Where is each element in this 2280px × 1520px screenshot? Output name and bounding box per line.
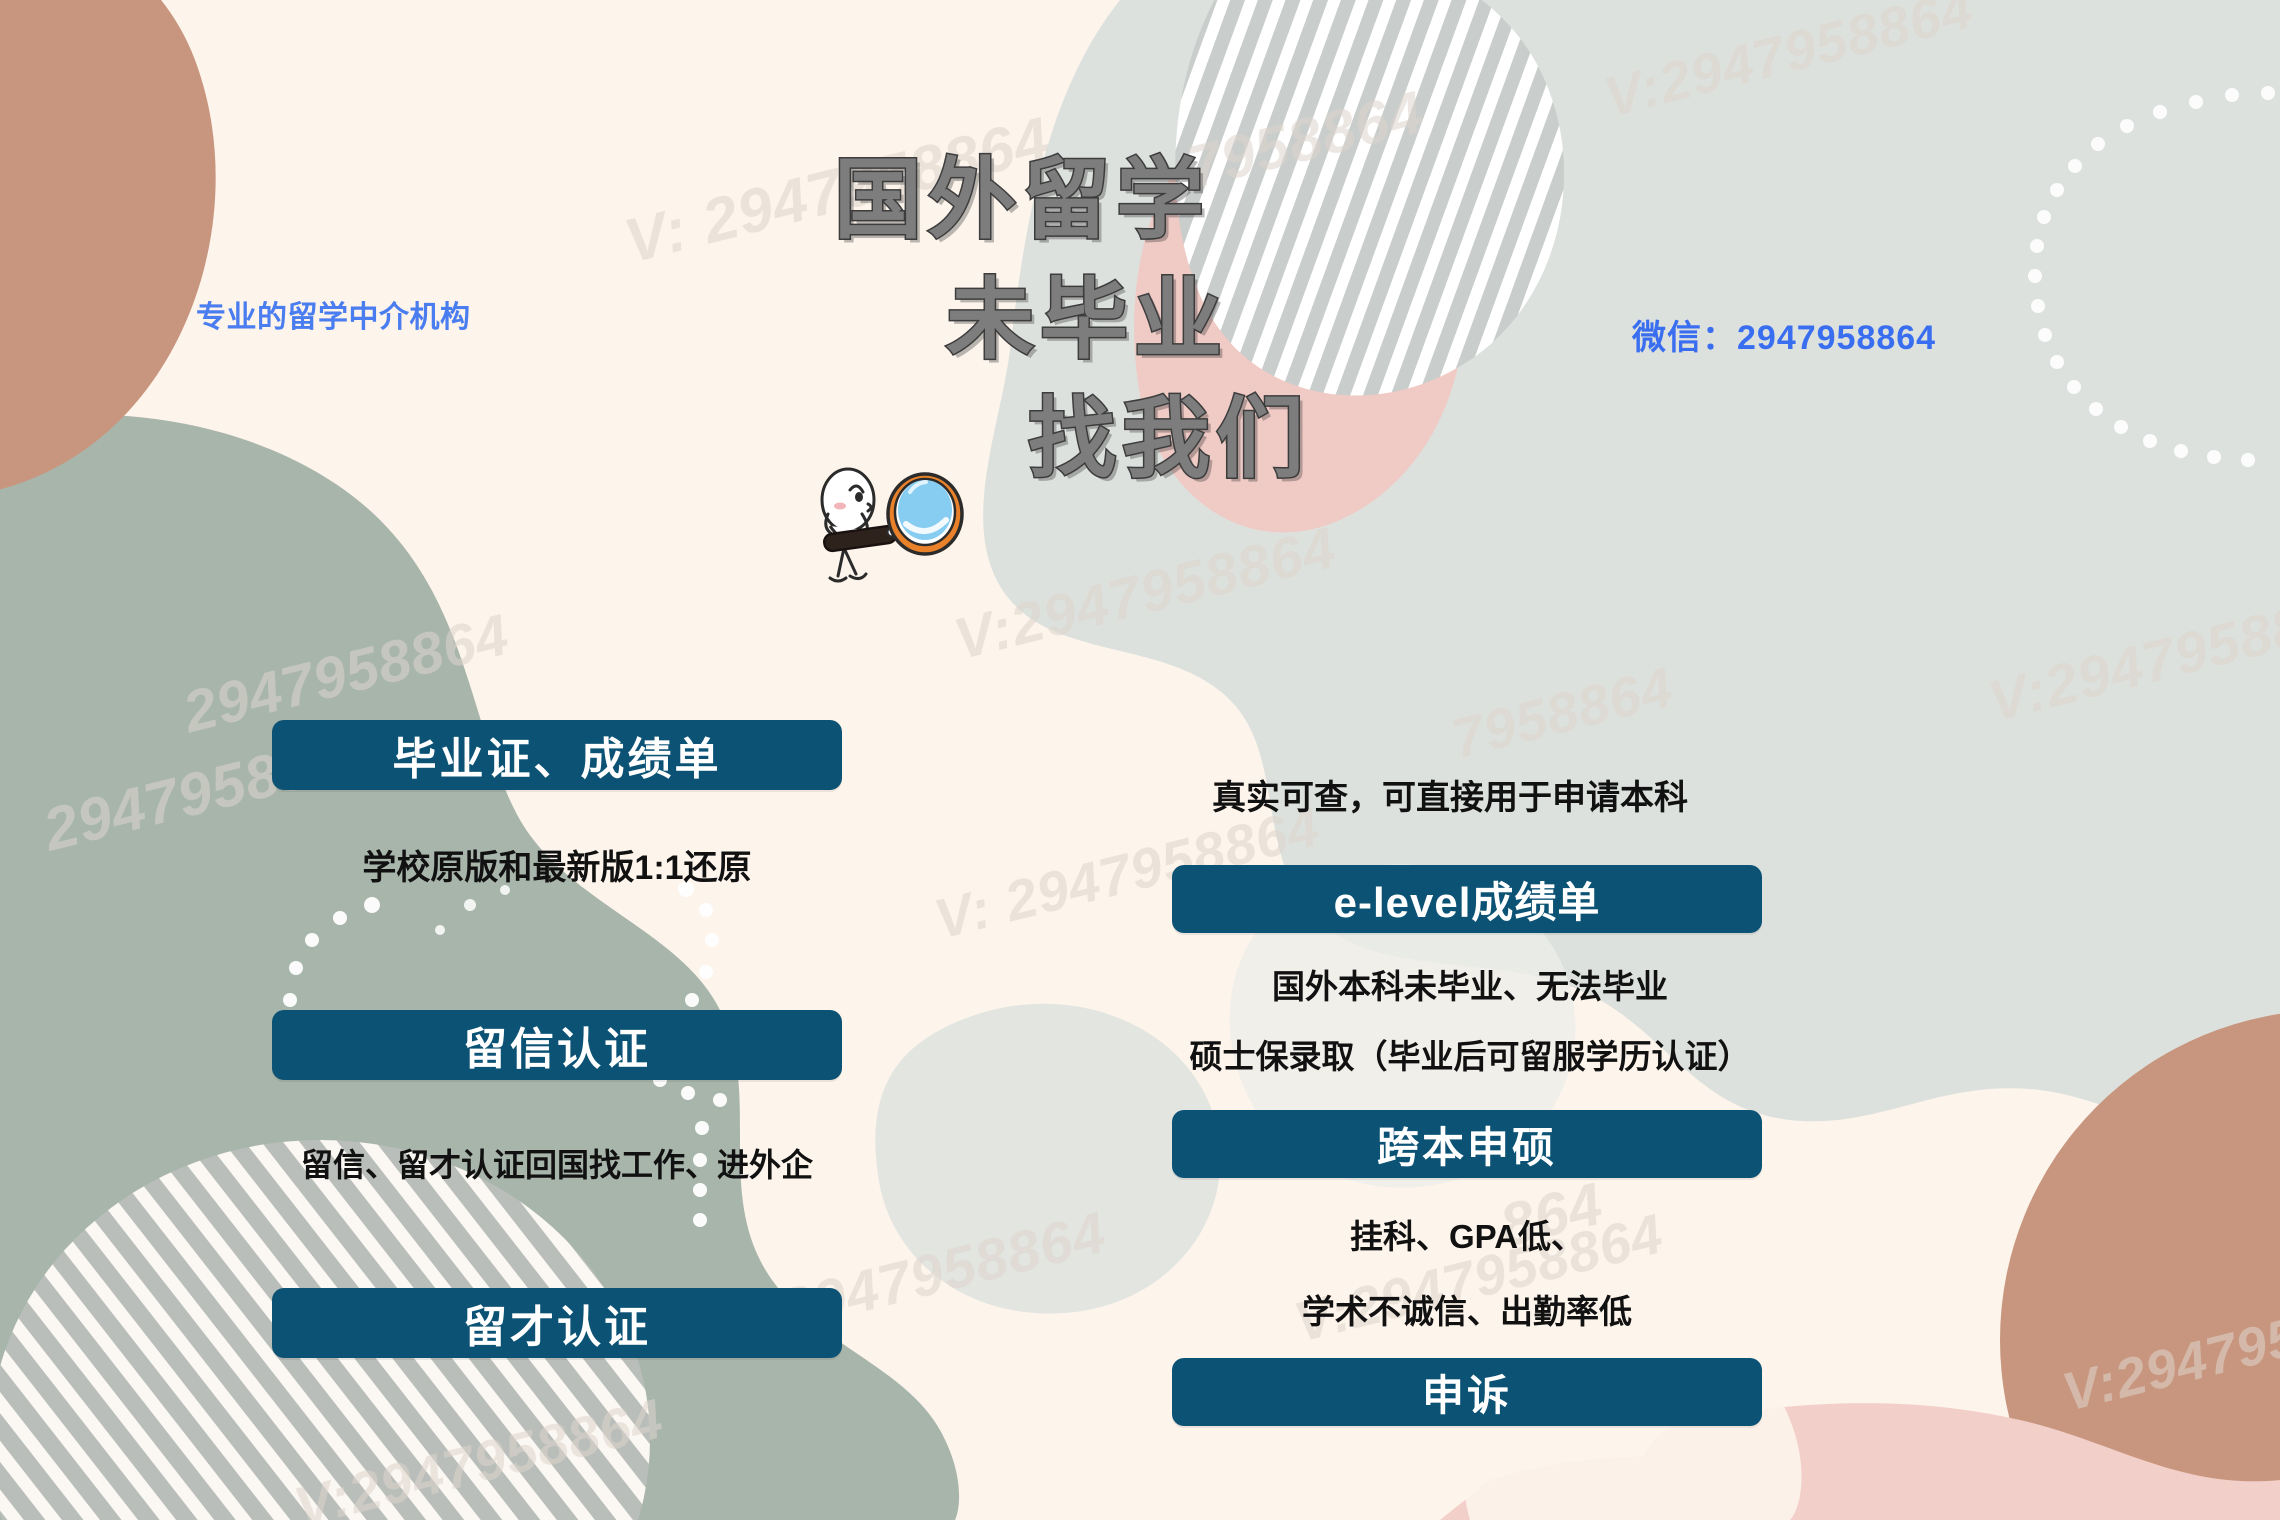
caption-master-guaranteed-admission: 硕士保录取（毕业后可留服学历认证） — [1100, 1030, 1840, 1078]
hero-line-2: 未毕业 — [760, 260, 1460, 380]
pill-liuxin-certification[interactable]: 留信认证 — [272, 1010, 842, 1080]
pill-appeal[interactable]: 申诉 — [1172, 1358, 1762, 1426]
hero-line-1: 国外留学 — [760, 140, 1460, 260]
caption-verifiable: 真实可查，可直接用于申请本科 — [1110, 770, 1790, 819]
magnifying-glass-character-icon — [800, 452, 970, 592]
poster-canvas: V:2947958864V: 29479588647958864V:294795… — [0, 0, 2280, 1520]
pill-liucai-certification[interactable]: 留才认证 — [272, 1288, 842, 1358]
pill-elevel-transcript[interactable]: e-level成绩单 — [1172, 865, 1762, 933]
caption-undergraduate-not-graduated: 国外本科未毕业、无法毕业 — [1130, 960, 1810, 1008]
caption-liuxin-certification: 留信、留才认证回国找工作、进外企 — [222, 1140, 892, 1186]
pill-certificate-transcript[interactable]: 毕业证、成绩单 — [272, 720, 842, 790]
caption-failed-courses-low-gpa: 挂科、GPA低、 — [1172, 1210, 1762, 1258]
wechat-contact: 微信：2947958864 — [1632, 310, 1936, 359]
tagline-text: 专业的留学中介机构 — [196, 292, 471, 336]
caption-certificate-transcript: 学校原版和最新版1:1还原 — [272, 840, 842, 889]
pill-cross-bachelor-to-master[interactable]: 跨本申硕 — [1172, 1110, 1762, 1178]
caption-academic-misconduct-attendance: 学术不诚信、出勤率低 — [1172, 1285, 1762, 1333]
hero-title: 国外留学 未毕业 找我们 — [760, 140, 1460, 499]
